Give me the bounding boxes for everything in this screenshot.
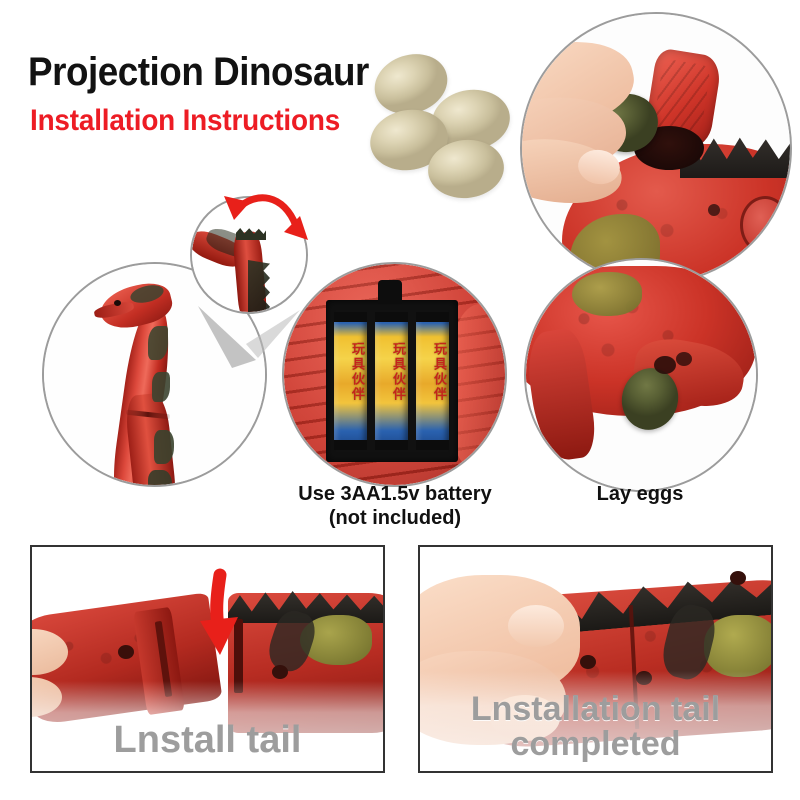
battery-label-3: 玩具伙伴 — [416, 342, 449, 402]
step-lay-eggs-photo — [524, 258, 758, 492]
battery-label-1: 玩具伙伴 — [334, 342, 367, 402]
caption-lay-eggs: Lay eggs — [540, 483, 740, 507]
panel-install-tail-completed: Lnstallation tail completed — [418, 545, 773, 773]
battery-cell-3: 玩具伙伴 — [416, 312, 449, 450]
battery-label-2: 玩具伙伴 — [375, 342, 408, 402]
step-load-egg-photo — [520, 12, 792, 284]
battery-cell-1: 玩具伙伴 — [334, 312, 367, 450]
battery-cell-2: 玩具伙伴 — [375, 312, 408, 450]
panel-caption-install-tail-completed: Lnstallation tail completed — [420, 692, 771, 763]
flex-motion-arrow — [222, 192, 312, 254]
panel-install-tail: Lnstall tail — [30, 545, 385, 773]
battery-holder: 玩具伙伴 玩具伙伴 玩具伙伴 — [326, 300, 458, 462]
step-battery-photo: 玩具伙伴 玩具伙伴 玩具伙伴 — [282, 262, 507, 487]
page-subtitle: Installation Instructions — [30, 106, 340, 136]
battery-latch[interactable] — [378, 280, 402, 304]
down-arrow-red — [190, 569, 260, 665]
page-title: Projection Dinosaur — [28, 52, 369, 92]
caption-battery: Use 3AA1.5v battery (not included) — [245, 483, 545, 530]
panel-caption-install-tail: Lnstall tail — [32, 721, 383, 761]
dinosaur-eye — [740, 196, 790, 254]
infographic-root: Projection Dinosaur Installation Instruc… — [0, 0, 800, 800]
